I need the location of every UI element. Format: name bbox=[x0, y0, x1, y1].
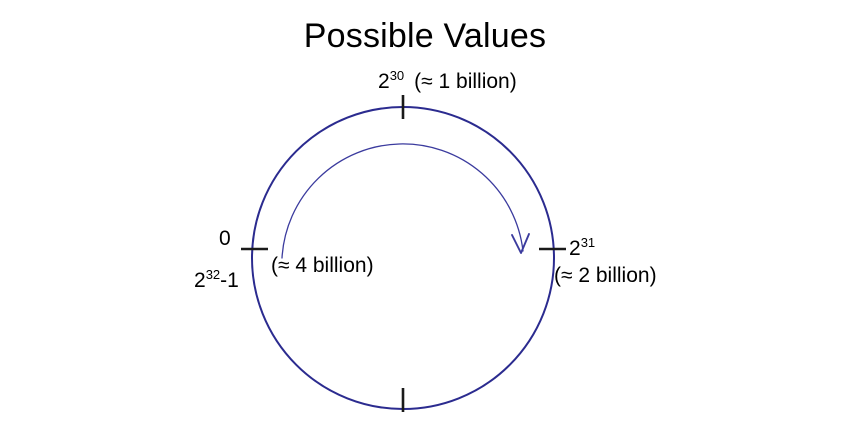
clockwise-arrow-arc bbox=[282, 144, 523, 258]
label-two-pow-30-power: 230 bbox=[378, 70, 404, 93]
number-wheel-diagram bbox=[0, 0, 850, 437]
label-two-pow-30-approx: (≈ 1 billion) bbox=[414, 70, 517, 93]
label-two-pow-31-exponent: 31 bbox=[581, 235, 595, 250]
label-two-pow-30: 230(≈ 1 billion) bbox=[378, 69, 517, 94]
label-two-pow-32-suffix: -1 bbox=[220, 269, 239, 292]
label-two-pow-31-approx: (≈ 2 billion) bbox=[554, 263, 657, 288]
label-two-pow-30-exponent: 30 bbox=[390, 68, 404, 83]
label-two-pow-32-minus-1: 232-1 bbox=[194, 268, 239, 293]
label-two-pow-31: 231 bbox=[569, 236, 595, 261]
slide-canvas: Possible Values 230(≈ 1 billion) 231 (≈ … bbox=[0, 0, 850, 437]
label-two-pow-31-base: 2 bbox=[569, 237, 581, 260]
label-two-pow-32-exponent: 32 bbox=[206, 267, 220, 282]
label-two-pow-32-base: 2 bbox=[194, 269, 206, 292]
label-zero: 0 bbox=[219, 226, 231, 251]
label-four-billion-approx: (≈ 4 billion) bbox=[271, 253, 374, 278]
label-two-pow-30-base: 2 bbox=[378, 70, 390, 93]
